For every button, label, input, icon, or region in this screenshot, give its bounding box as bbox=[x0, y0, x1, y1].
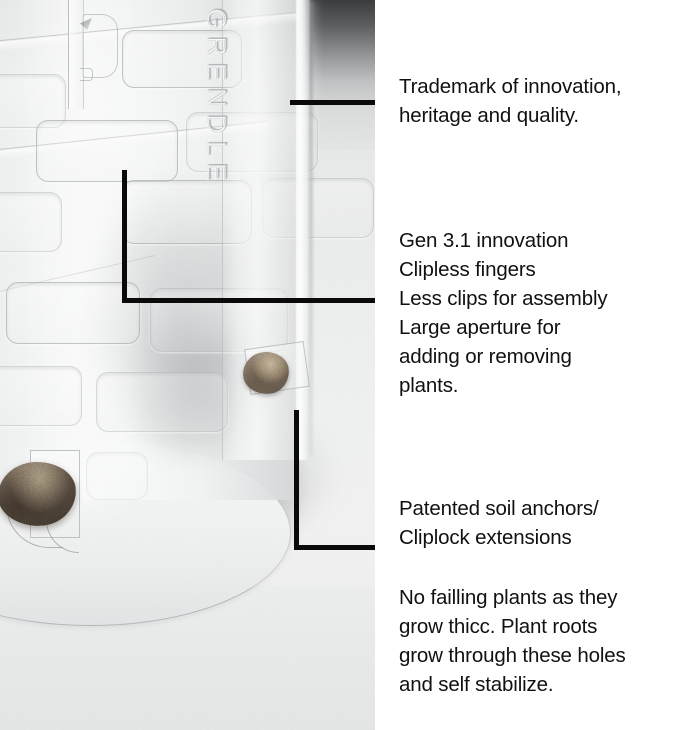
callout-no-failing-plants-text: No failling plants as they grow thicc. P… bbox=[399, 583, 679, 699]
product-infographic: GRENDLE bbox=[0, 0, 679, 730]
leader-line-gen-vertical bbox=[122, 170, 127, 303]
callout-trademark-text: Trademark of innovation, heritage and qu… bbox=[399, 72, 679, 130]
callout-text-panel: Trademark of innovation, heritage and qu… bbox=[375, 0, 679, 730]
product-photo: GRENDLE bbox=[0, 0, 375, 730]
leader-line-anchors-vertical bbox=[294, 410, 299, 550]
leader-line-gen-horizontal bbox=[122, 298, 390, 303]
callout-soil-anchors-text: Patented soil anchors/ Cliplock extensio… bbox=[399, 494, 679, 552]
paper-grain-texture bbox=[0, 0, 375, 730]
callout-gen-innovation-text: Gen 3.1 innovation Clipless fingers Less… bbox=[399, 226, 679, 400]
